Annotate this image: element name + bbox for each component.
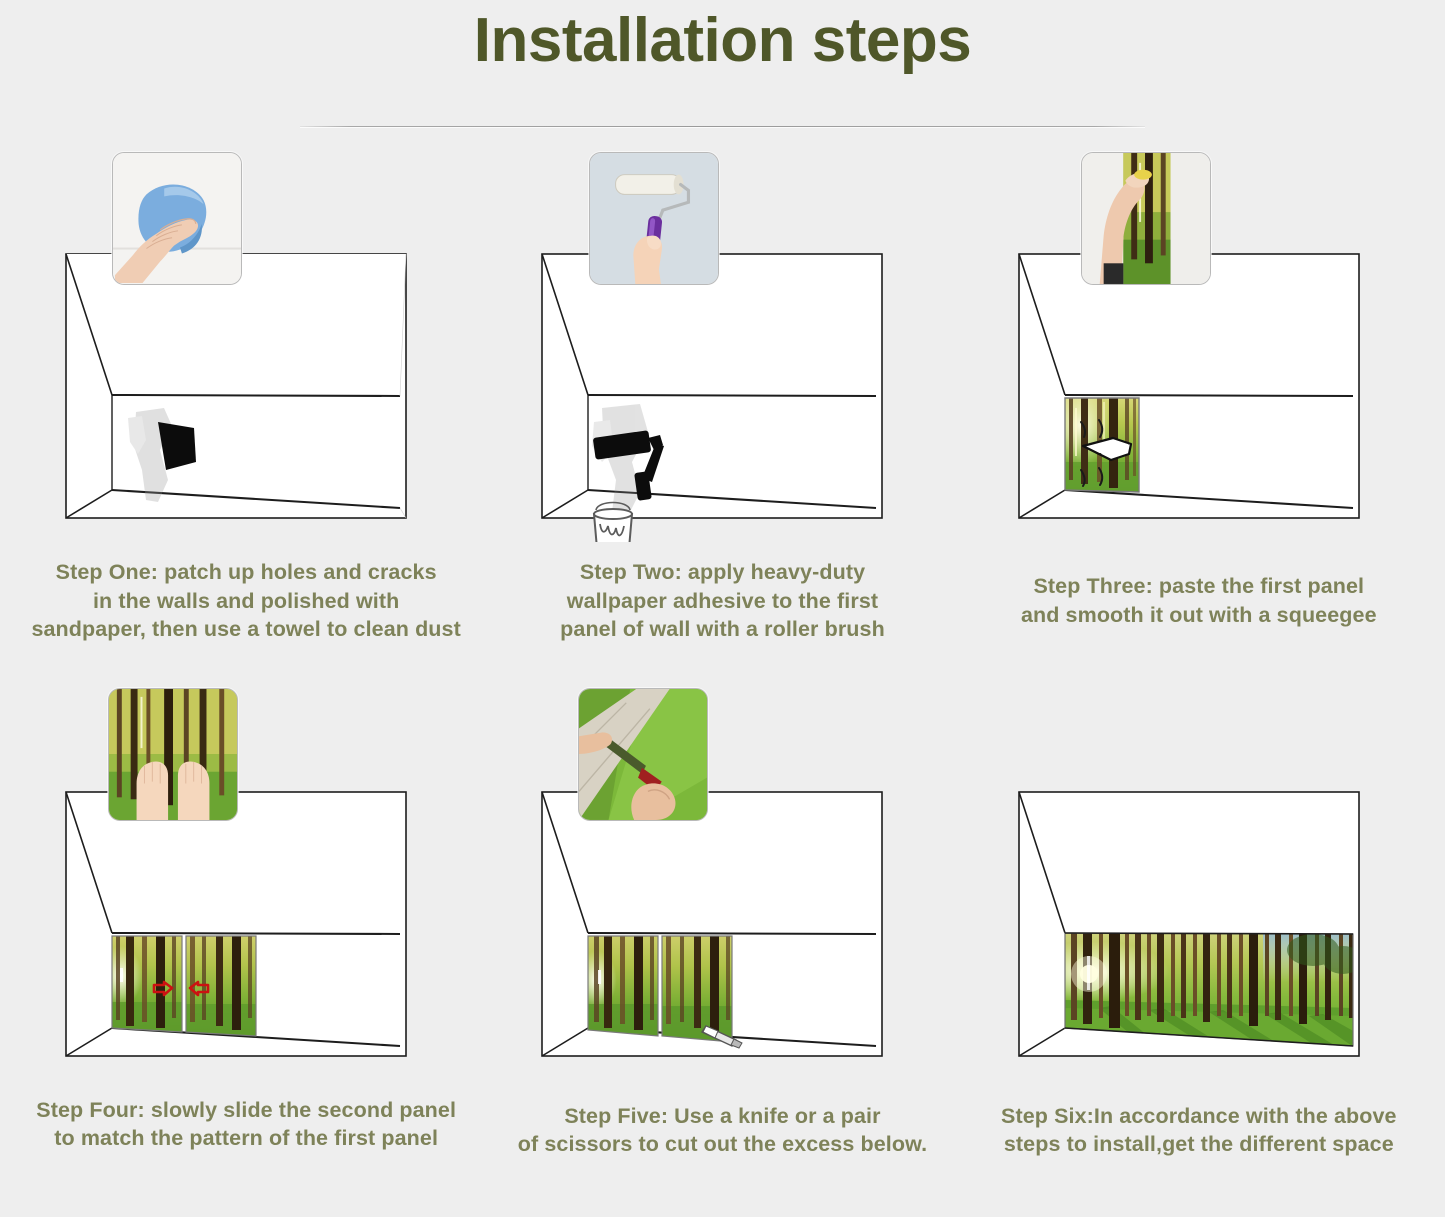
step-caption-two: Step Two: apply heavy-duty wallpaper adh… — [487, 558, 957, 644]
caption-line: Step Four: slowly slide the second panel — [11, 1096, 481, 1125]
wallpaper-panel-second — [662, 934, 732, 1042]
step-card-six: Step Six:In accordance with the above st… — [961, 688, 1437, 1159]
caption-line: Step Three: paste the first panel — [964, 572, 1434, 601]
caption-line: Step One: patch up holes and cracks — [11, 558, 481, 587]
step-caption-one: Step One: patch up holes and cracks in t… — [11, 558, 481, 644]
inset-photo-applying-panel — [1081, 152, 1211, 285]
caption-line: sandpaper, then use a towel to clean dus… — [11, 615, 481, 644]
steps-row-top: Step One: patch up holes and cracks in t… — [8, 150, 1437, 644]
caption-line: Step Five: Use a knife or a pair — [487, 1102, 957, 1131]
step-card-one: Step One: patch up holes and cracks in t… — [8, 150, 484, 644]
step-card-four: Step Four: slowly slide the second panel… — [8, 688, 484, 1159]
wallpaper-panel-second — [186, 934, 256, 1038]
caption-line: Step Six:In accordance with the above — [964, 1102, 1434, 1131]
inset-photo-hand-towel — [112, 152, 242, 285]
step-card-five: Step Five: Use a knife or a pair of scis… — [484, 688, 960, 1159]
caption-line: steps to install,get the different space — [964, 1130, 1434, 1159]
steps-row-bottom: Step Four: slowly slide the second panel… — [8, 688, 1437, 1159]
caption-line: Step Two: apply heavy-duty — [487, 558, 957, 587]
inset-photo-cutting-knife — [578, 688, 708, 821]
caption-line: of scissors to cut out the excess below. — [487, 1130, 957, 1159]
inset-photo-two-hands-forest — [108, 688, 238, 821]
page-title: Installation steps — [0, 0, 1445, 72]
steps-grid: Step One: patch up holes and cracks in t… — [0, 150, 1445, 1159]
step-card-two: Step Two: apply heavy-duty wallpaper adh… — [484, 150, 960, 644]
caption-line: in the walls and polished with — [11, 587, 481, 616]
step-caption-five: Step Five: Use a knife or a pair of scis… — [487, 1102, 957, 1159]
title-divider — [300, 126, 1145, 128]
room-diagram-six — [1013, 688, 1385, 1080]
step-caption-four: Step Four: slowly slide the second panel… — [11, 1096, 481, 1153]
step-caption-six: Step Six:In accordance with the above st… — [964, 1102, 1434, 1159]
wallpaper-panel-first — [112, 934, 184, 1034]
caption-line: and smooth it out with a squeegee — [964, 601, 1434, 630]
caption-line: wallpaper adhesive to the first — [487, 587, 957, 616]
step-card-three: Step Three: paste the first panel and sm… — [961, 150, 1437, 644]
inset-photo-paint-roller — [589, 152, 719, 285]
caption-line: panel of wall with a roller brush — [487, 615, 957, 644]
caption-line: to match the pattern of the first panel — [11, 1124, 481, 1153]
wallpaper-panel-first — [588, 934, 660, 1038]
step-caption-three: Step Three: paste the first panel and sm… — [964, 572, 1434, 629]
